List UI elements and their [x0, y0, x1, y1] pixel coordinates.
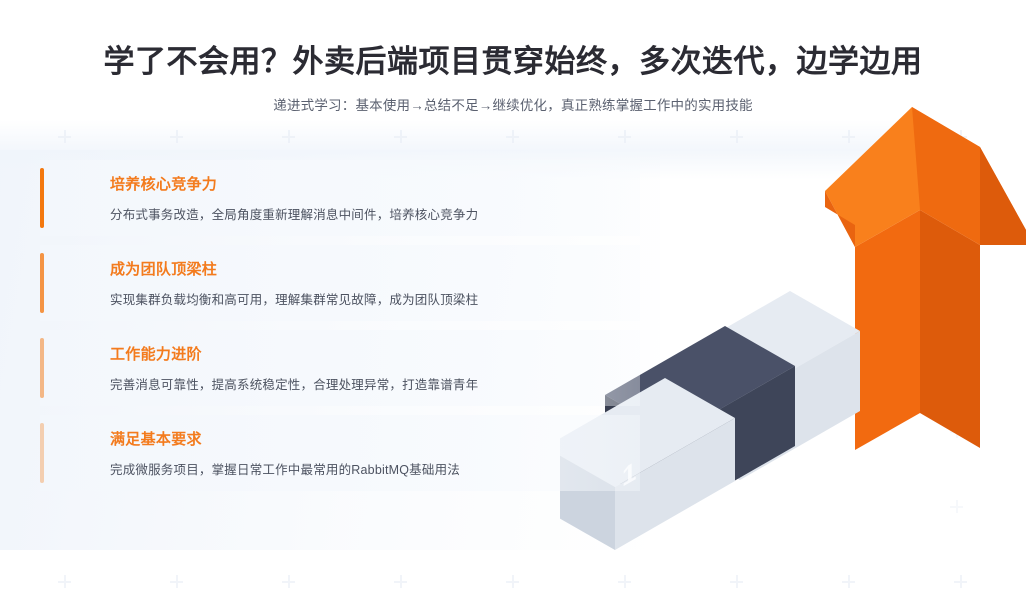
list-item[interactable]: 成为团队顶梁柱 实现集群负载均衡和高可用，理解集群常见故障，成为团队顶梁柱: [40, 245, 640, 321]
plus-icon: [282, 575, 295, 588]
plus-icon: [394, 575, 407, 588]
list-item-title: 培养核心竞争力: [110, 173, 478, 194]
list-item-body: 培养核心竞争力 分布式事务改造，全局角度重新理解消息中间件，培养核心竞争力: [40, 173, 478, 223]
accent-bar: [40, 423, 44, 483]
list-item[interactable]: 满足基本要求 完成微服务项目，掌握日常工作中最常用的RabbitMQ基础用法: [40, 415, 640, 491]
stage-list: 培养核心竞争力 分布式事务改造，全局角度重新理解消息中间件，培养核心竞争力 成为…: [40, 160, 640, 500]
header: 学了不会用？外卖后端项目贯穿始终，多次迭代，边学边用 递进式学习：基本使用→总结…: [0, 0, 1026, 114]
accent-bar: [40, 168, 44, 228]
accent-bar: [40, 253, 44, 313]
plus-icon: [730, 575, 743, 588]
list-item-desc: 实现集群负载均衡和高可用，理解集群常见故障，成为团队顶梁柱: [110, 289, 478, 308]
list-item[interactable]: 培养核心竞争力 分布式事务改造，全局角度重新理解消息中间件，培养核心竞争力: [40, 160, 640, 236]
list-item-desc: 完善消息可靠性，提高系统稳定性，合理处理异常，打造靠谱青年: [110, 374, 478, 393]
list-item-desc: 分布式事务改造，全局角度重新理解消息中间件，培养核心竞争力: [110, 204, 478, 223]
list-item[interactable]: 工作能力进阶 完善消息可靠性，提高系统稳定性，合理处理异常，打造靠谱青年: [40, 330, 640, 406]
list-item-title: 工作能力进阶: [110, 343, 478, 364]
list-item-title: 满足基本要求: [110, 428, 460, 449]
list-item-body: 满足基本要求 完成微服务项目，掌握日常工作中最常用的RabbitMQ基础用法: [40, 428, 460, 478]
list-item-body: 工作能力进阶 完善消息可靠性，提高系统稳定性，合理处理异常，打造靠谱青年: [40, 343, 478, 393]
slide-canvas: 学了不会用？外卖后端项目贯穿始终，多次迭代，边学边用 递进式学习：基本使用→总结…: [0, 0, 1026, 589]
accent-bar: [40, 338, 44, 398]
list-item-title: 成为团队顶梁柱: [110, 258, 478, 279]
step-number-4: 4: [807, 227, 822, 264]
plus-icon: [842, 575, 855, 588]
plus-icon: [506, 575, 519, 588]
plus-icon: [58, 575, 71, 588]
list-item-desc: 完成微服务项目，掌握日常工作中最常用的RabbitMQ基础用法: [110, 459, 460, 478]
page-subtitle: 递进式学习：基本使用→总结不足→继续优化，真正熟练掌握工作中的实用技能: [0, 82, 1026, 114]
plus-icon: [954, 575, 967, 588]
plus-icon: [618, 575, 631, 588]
list-item-body: 成为团队顶梁柱 实现集群负载均衡和高可用，理解集群常见故障，成为团队顶梁柱: [40, 258, 478, 308]
plus-icon: [170, 575, 183, 588]
page-title: 学了不会用？外卖后端项目贯穿始终，多次迭代，边学边用: [0, 0, 1026, 82]
arrow-shaft: [855, 210, 980, 450]
